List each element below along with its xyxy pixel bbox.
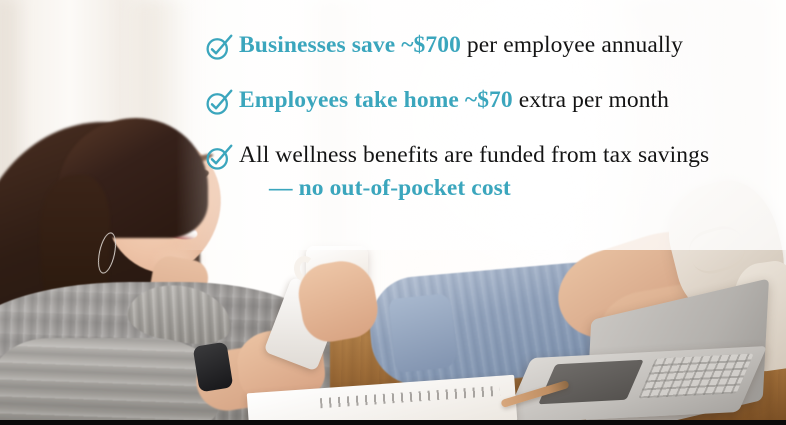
sweater-sleeve [0,338,220,425]
bullet-accent-2: Employees take home ~$70 [239,87,513,113]
bullet-accent-1: Businesses save ~$700 [239,32,461,58]
bullet-plain-1: per employee annually [461,32,683,58]
bullet-plain-3: All wellness benefits are funded from ta… [239,142,709,168]
bullet-item-1: Businesses save ~$700 per employee annua… [205,30,746,63]
bullet-item-3: All wellness benefits are funded from ta… [205,140,746,203]
bullet-text-2: Employees take home ~$70 extra per month [239,85,669,116]
bullet-accent-3-line2: — no out-of-pocket cost [239,173,709,204]
smartwatch [193,342,234,393]
bullet-item-2: Employees take home ~$70 extra per month [205,85,746,118]
check-circle-icon [205,33,233,63]
bullet-plain-2: extra per month [513,87,669,113]
check-circle-icon [205,143,233,173]
laptop-keyboard [638,354,754,399]
check-circle-icon [205,88,233,118]
bullet-text-3: All wellness benefits are funded from ta… [239,140,709,203]
bottom-letterbox-bar [0,420,786,425]
jeans-cuff [388,293,457,373]
slide-root: Businesses save ~$700 per employee annua… [0,0,786,425]
benefit-bullet-list: Businesses save ~$700 per employee annua… [205,30,746,225]
bullet-text-1: Businesses save ~$700 per employee annua… [239,30,683,61]
